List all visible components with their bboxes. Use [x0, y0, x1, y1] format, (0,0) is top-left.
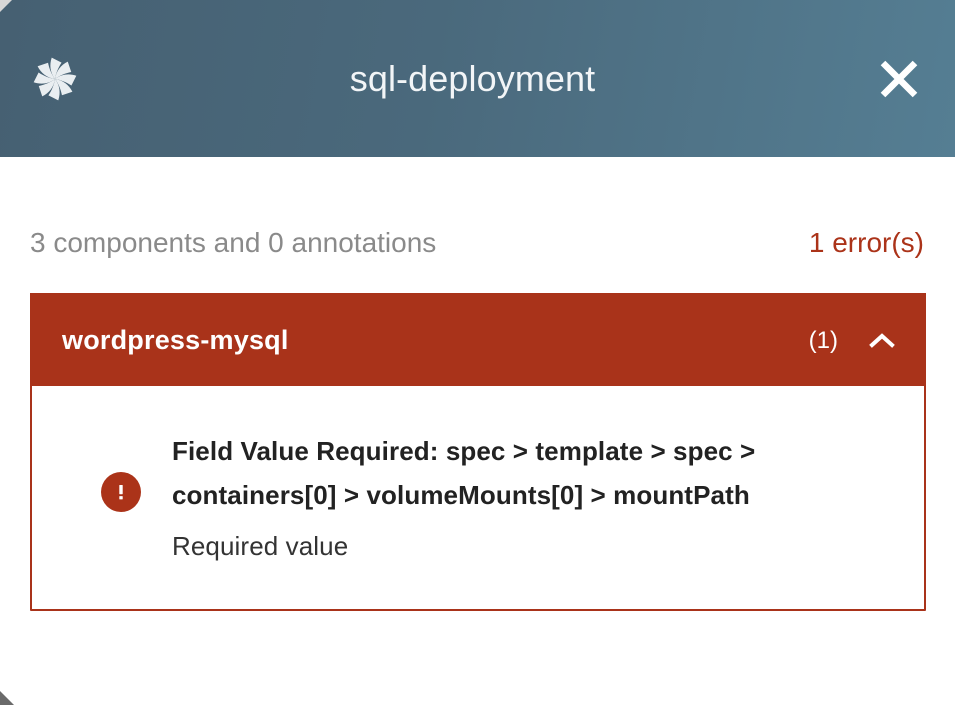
- chevron-up-icon: [866, 325, 898, 357]
- validation-errors-window: sql-deployment 3 components and 0 annota…: [0, 0, 955, 705]
- components-summary-label: 3 components and 0 annotations: [30, 229, 436, 257]
- error-count-label: 1 error(s): [809, 229, 925, 257]
- collapse-toggle-button[interactable]: [864, 323, 900, 359]
- error-group-header[interactable]: wordpress-mysql (1): [30, 293, 926, 388]
- summary-row: 3 components and 0 annotations 1 error(s…: [30, 157, 925, 257]
- error-list-item: Field Value Required: spec > template > …: [32, 386, 924, 609]
- close-button[interactable]: [871, 51, 927, 107]
- error-group-name: wordpress-mysql: [62, 327, 809, 354]
- error-group-card: wordpress-mysql (1): [30, 293, 926, 611]
- error-group-count: (1): [809, 329, 838, 353]
- error-exclamation-icon: [101, 472, 141, 512]
- titlebar: sql-deployment: [0, 0, 955, 157]
- error-title: Field Value Required: spec > template > …: [172, 430, 772, 517]
- error-text-block: Field Value Required: spec > template > …: [172, 428, 772, 569]
- page-title: sql-deployment: [74, 61, 871, 97]
- close-x-icon: [876, 56, 922, 102]
- content-body: 3 components and 0 annotations 1 error(s…: [0, 157, 955, 705]
- error-detail: Required value: [172, 525, 772, 569]
